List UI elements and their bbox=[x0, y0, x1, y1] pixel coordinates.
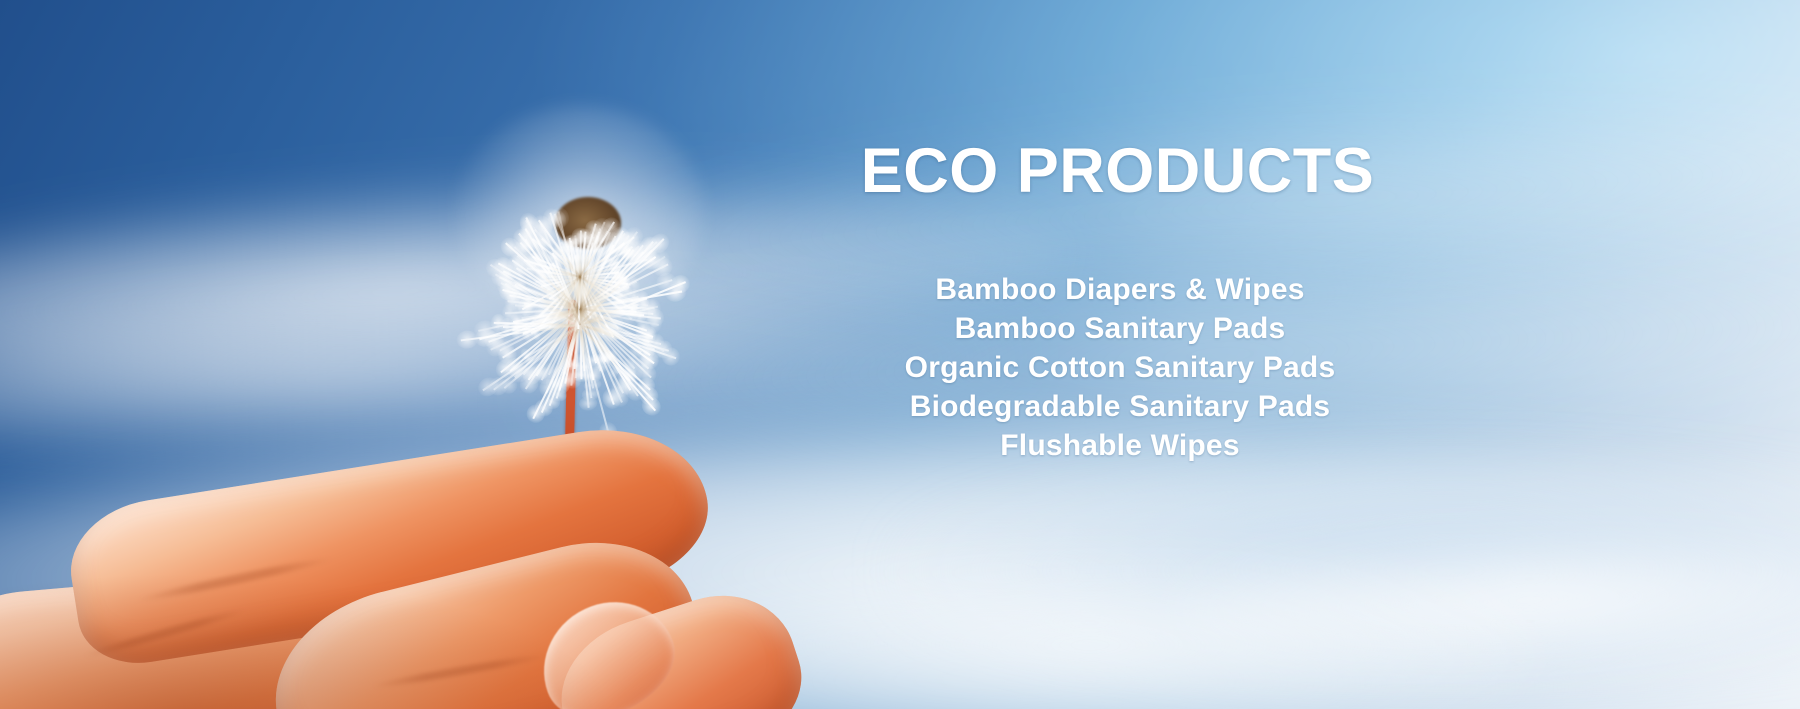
dandelion-seedhead bbox=[455, 105, 705, 320]
product-list-item: Organic Cotton Sanitary Pads bbox=[830, 348, 1410, 387]
hand-holding-stem bbox=[0, 429, 740, 709]
eco-products-banner: ECO PRODUCTS Bamboo Diapers & Wipes Bamb… bbox=[0, 0, 1800, 709]
product-list-item: Bamboo Sanitary Pads bbox=[830, 309, 1410, 348]
page-title: ECO PRODUCTS bbox=[845, 140, 1390, 203]
product-list-item: Flushable Wipes bbox=[830, 426, 1410, 465]
product-list-item: Bamboo Diapers & Wipes bbox=[830, 270, 1410, 309]
product-list: Bamboo Diapers & Wipes Bamboo Sanitary P… bbox=[830, 270, 1410, 465]
product-list-item: Biodegradable Sanitary Pads bbox=[830, 387, 1410, 426]
